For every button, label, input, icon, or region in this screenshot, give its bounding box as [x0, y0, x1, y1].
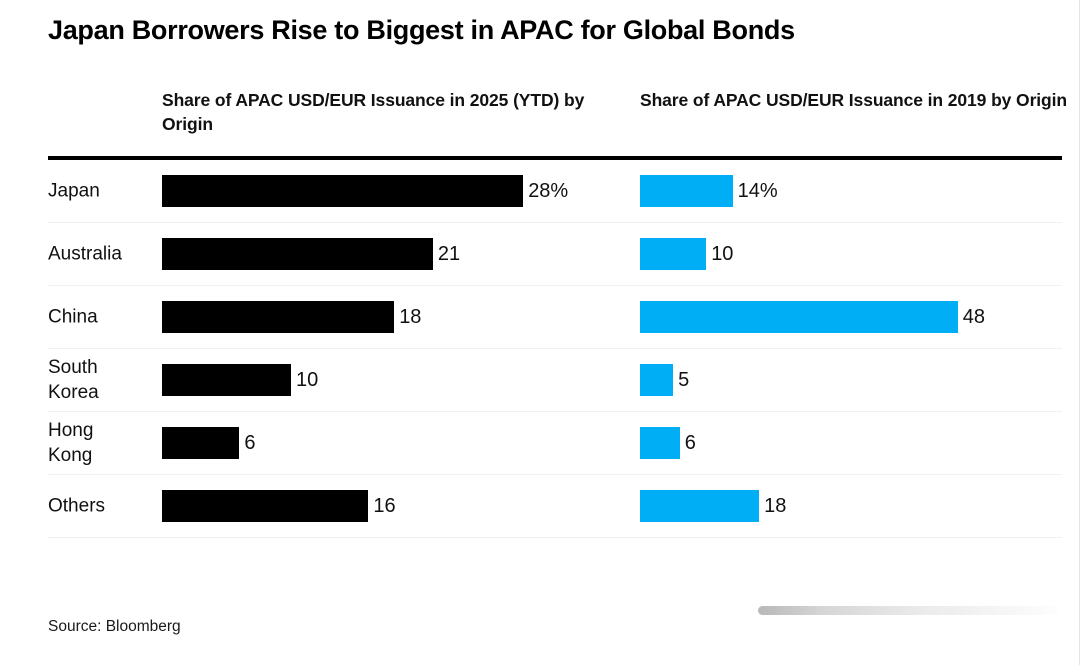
row-label: Japan — [48, 179, 156, 204]
bar-2019 — [640, 175, 733, 207]
table-row: Australia2110 — [48, 223, 1062, 286]
bar-2019 — [640, 301, 958, 333]
bar-value-2025: 10 — [291, 368, 318, 392]
bar-2025 — [162, 427, 239, 459]
table-row: South Korea105 — [48, 349, 1062, 412]
bar-2019 — [640, 427, 680, 459]
table-row: China1848 — [48, 286, 1062, 349]
row-label: Australia — [48, 242, 156, 267]
bar-value-2019: 18 — [759, 494, 786, 518]
bar-2019 — [640, 490, 759, 522]
bar-2025 — [162, 490, 368, 522]
bar-2019 — [640, 364, 673, 396]
bar-value-2025: 16 — [368, 494, 395, 518]
bar-value-2019: 48 — [958, 305, 985, 329]
table-row: Hong Kong66 — [48, 412, 1062, 475]
row-label: Hong Kong — [48, 418, 156, 468]
bar-value-2019: 5 — [673, 368, 689, 392]
horizontal-scrollbar[interactable] — [758, 606, 1058, 615]
bar-value-2025: 18 — [394, 305, 421, 329]
column-header-2025: Share of APAC USD/EUR Issuance in 2025 (… — [162, 88, 592, 136]
bar-value-2019: 10 — [706, 242, 733, 266]
chart-page: Japan Borrowers Rise to Biggest in APAC … — [0, 0, 1080, 665]
bar-2025 — [162, 238, 433, 270]
table-row: Japan28%14% — [48, 160, 1062, 223]
bar-value-2025: 28% — [523, 179, 568, 203]
row-label: China — [48, 305, 156, 330]
bar-value-2025: 21 — [433, 242, 460, 266]
bar-2025 — [162, 301, 394, 333]
column-headers: Share of APAC USD/EUR Issuance in 2025 (… — [48, 88, 1062, 146]
chart-rows: Japan28%14%Australia2110China1848South K… — [48, 160, 1062, 538]
page-title: Japan Borrowers Rise to Biggest in APAC … — [48, 13, 1048, 47]
row-label: South Korea — [48, 355, 156, 405]
column-header-2019: Share of APAC USD/EUR Issuance in 2019 b… — [640, 88, 1070, 112]
bar-value-2019: 6 — [680, 431, 696, 455]
bar-value-2019: 14% — [733, 179, 778, 203]
bar-2025 — [162, 175, 523, 207]
row-label: Others — [48, 494, 156, 519]
bar-value-2025: 6 — [239, 431, 255, 455]
bar-2019 — [640, 238, 706, 270]
table-row: Others1618 — [48, 475, 1062, 538]
bar-2025 — [162, 364, 291, 396]
source-note: Source: Bloomberg — [48, 618, 181, 636]
